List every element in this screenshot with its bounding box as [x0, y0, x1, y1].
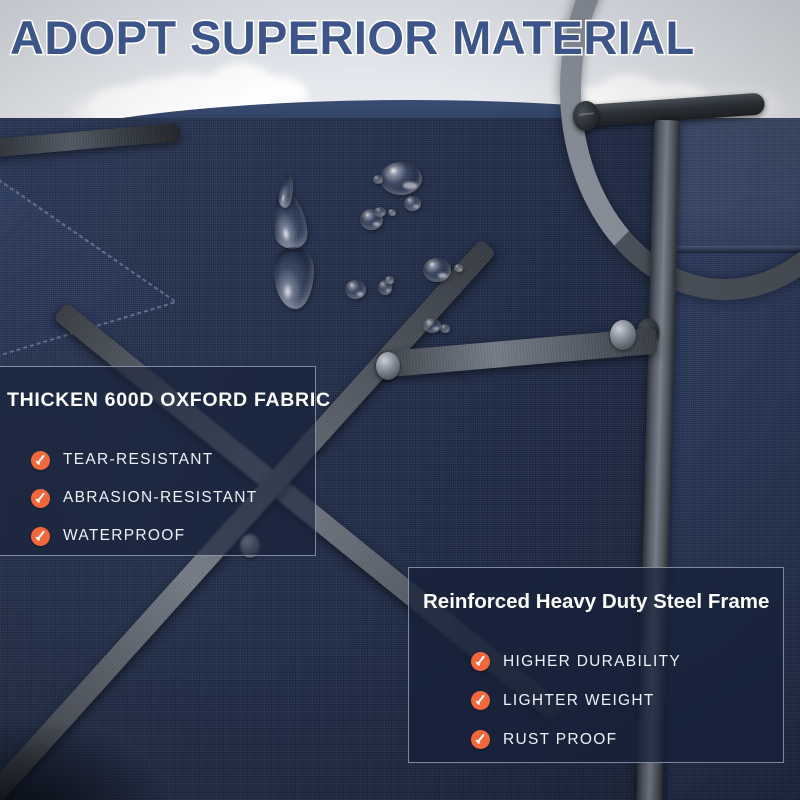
fabric-callout-title: THICKEN 600D OXFORD FABRIC [7, 389, 331, 412]
fabric-feature-list: TEAR-RESISTANT ABRASION-RESISTANT WATERP… [31, 441, 258, 555]
water-droplet [380, 162, 422, 195]
feature-label: RUST PROOF [503, 731, 617, 749]
check-circle-icon [31, 451, 50, 470]
check-circle-icon [471, 730, 490, 749]
list-item: LIGHTER WEIGHT [471, 681, 681, 720]
frame-callout: Reinforced Heavy Duty Steel Frame HIGHER… [408, 567, 784, 763]
page-title: ADOPT SUPERIOR MATERIAL [10, 12, 695, 64]
feature-label: TEAR-RESISTANT [63, 451, 214, 469]
check-circle-icon [471, 652, 490, 671]
feature-label: ABRASION-RESISTANT [63, 489, 258, 507]
frame-feature-list: HIGHER DURABILITY LIGHTER WEIGHT RUST PR… [471, 642, 681, 759]
feature-label: WATERPROOF [63, 527, 185, 545]
fabric-callout: THICKEN 600D OXFORD FABRIC TEAR-RESISTAN… [0, 366, 316, 556]
water-droplet [345, 280, 366, 299]
pivot-rivet [610, 320, 636, 350]
water-droplet [423, 258, 451, 282]
tube-end-cap [573, 101, 599, 131]
feature-label: HIGHER DURABILITY [503, 653, 681, 671]
water-droplet [454, 264, 463, 272]
water-droplet [440, 324, 450, 333]
water-droplet [404, 196, 421, 211]
check-circle-icon [31, 489, 50, 508]
water-droplet [385, 276, 394, 284]
feature-label: LIGHTER WEIGHT [503, 692, 655, 710]
list-item: ABRASION-RESISTANT [31, 479, 258, 517]
check-circle-icon [31, 527, 50, 546]
corner-shadow [0, 720, 170, 800]
list-item: HIGHER DURABILITY [471, 642, 681, 681]
check-circle-icon [471, 691, 490, 710]
water-droplet [388, 209, 396, 216]
water-droplet [423, 318, 441, 333]
pivot-rivet [376, 352, 400, 380]
water-droplet [360, 209, 383, 230]
list-item: WATERPROOF [31, 517, 258, 555]
product-feature-banner: ADOPT SUPERIOR MATERIAL THICKEN 600D OXF… [0, 0, 800, 800]
list-item: RUST PROOF [471, 720, 681, 759]
water-droplet [373, 175, 383, 184]
list-item: TEAR-RESISTANT [31, 441, 258, 479]
frame-callout-title: Reinforced Heavy Duty Steel Frame [423, 590, 769, 614]
